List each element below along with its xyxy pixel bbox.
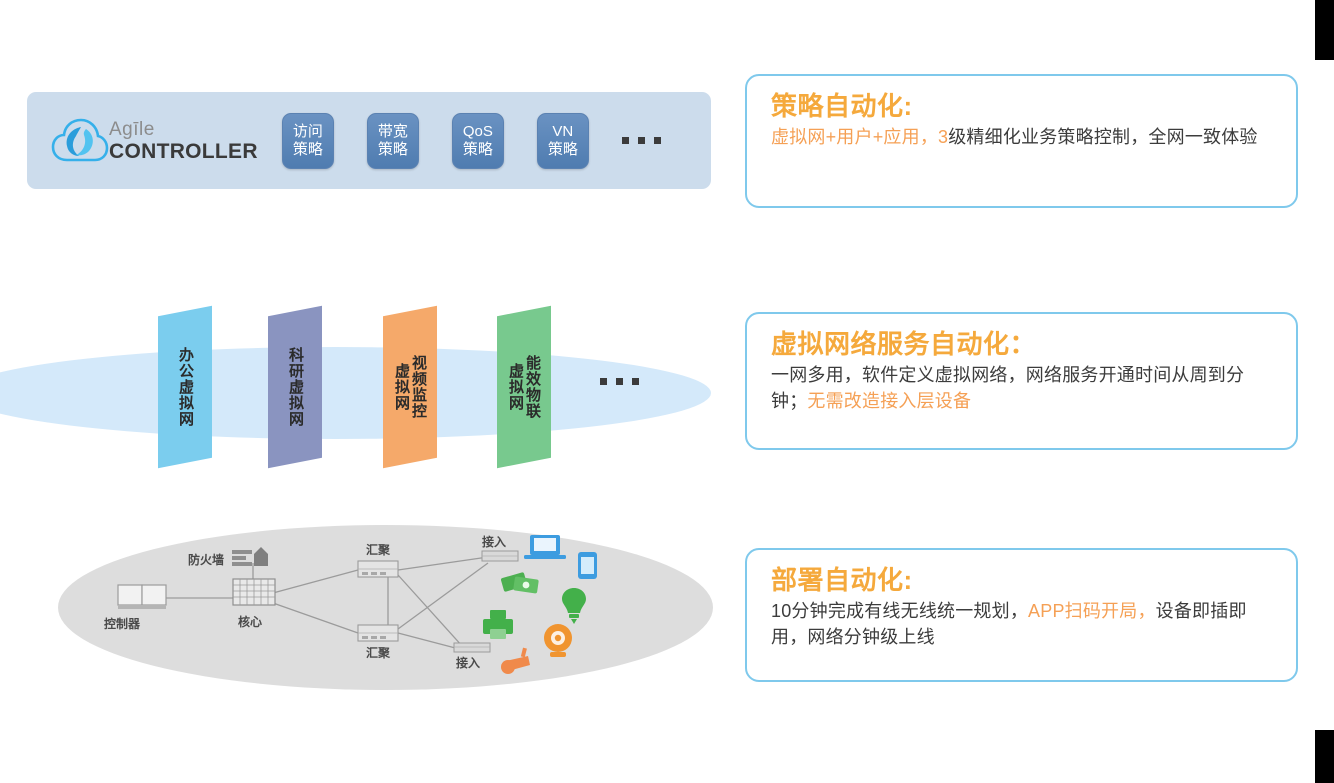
policy-chip-qos[interactable]: QoS 策略 [452, 113, 504, 169]
edge-bar-bottom [1315, 730, 1334, 783]
vn-slab-label: 办公虚拟网 [177, 347, 194, 427]
bulb-icon [562, 588, 586, 624]
vn-slab-research: 科研虚拟网 [268, 306, 322, 468]
slide-canvas: Agīle CONTROLLER 访问 策略 带宽 策略 QoS 策略 VN 策… [0, 0, 1334, 783]
laptop-icon [524, 535, 566, 559]
banner-more-dots-icon [622, 137, 661, 144]
policy-chip-line1: 带宽 [378, 123, 408, 141]
virtual-network-service-panel: 虚拟网络服务自动化： 一网多用，软件定义虚拟网络，网络服务开通时间从周到分钟；无… [745, 312, 1298, 450]
vn-slab-office: 办公虚拟网 [158, 306, 212, 468]
topology-label-core: 核心 [238, 613, 262, 630]
logo-controller-text: CONTROLLER [109, 141, 258, 162]
deployment-automation-panel: 部署自动化: 10分钟完成有线无线统一规划，APP扫码开局，设备即插即用，网络分… [745, 548, 1298, 682]
firewall-node-icon [232, 547, 268, 566]
policy-chip-line1: QoS [463, 123, 493, 141]
vn-slab-label: 视频监控 虚拟网 [393, 355, 427, 419]
agile-controller-banner: Agīle CONTROLLER 访问 策略 带宽 策略 QoS 策略 VN 策… [27, 92, 711, 189]
policy-chip-access[interactable]: 访问 策略 [282, 113, 334, 169]
access-node-bottom-icon [454, 643, 490, 652]
policy-chip-line1: 访问 [293, 123, 323, 141]
vn-slab-label: 科研虚拟网 [287, 347, 304, 427]
cctv-icon [501, 648, 530, 674]
network-topology-diagram: 控制器 防火墙 核心 汇聚 汇聚 接入 接入 [58, 525, 713, 690]
policy-chip-vn[interactable]: VN 策略 [537, 113, 589, 169]
policy-automation-panel: 策略自动化: 虚拟网+用户+应用，3级精细化业务策略控制，全网一致体验 [745, 74, 1298, 208]
policy-chip-line1: VN [552, 123, 573, 141]
topology-label-aggregation-top: 汇聚 [366, 541, 390, 558]
policy-chip-line2: 策略 [463, 141, 493, 159]
panel-body-highlight: 虚拟网+用户+应用，3 [771, 127, 948, 147]
aggregation-node-top-icon [358, 561, 398, 577]
logo-agile-text: Agīle [109, 120, 258, 139]
vn-slab-label: 能效物联 虚拟网 [507, 355, 541, 419]
aggregation-node-bottom-icon [358, 625, 398, 641]
vn-slab-energy-iot: 能效物联 虚拟网 [497, 306, 551, 468]
access-node-top-icon [482, 551, 518, 561]
panel-title: 策略自动化: [771, 90, 1276, 122]
topology-label-firewall: 防火墙 [188, 551, 224, 568]
topology-label-access-bottom: 接入 [456, 654, 480, 671]
printer-icon [483, 610, 513, 639]
money-icon [501, 572, 539, 594]
vn-slab-video-surveillance: 视频监控 虚拟网 [383, 306, 437, 468]
policy-chip-line2: 策略 [548, 141, 578, 159]
panel-body-highlight: APP扫码开局， [1028, 601, 1156, 621]
panel-body-lead: 10分钟完成有线无线统一规划， [771, 601, 1028, 621]
policy-chip-bandwidth[interactable]: 带宽 策略 [367, 113, 419, 169]
tablet-icon [578, 552, 597, 579]
cloud-swirl-icon [51, 117, 109, 165]
panel-body: 一网多用，软件定义虚拟网络，网络服务开通时间从周到分钟；无需改造接入层设备 [771, 362, 1276, 414]
edge-bar-top [1315, 0, 1334, 60]
agile-controller-logo: Agīle CONTROLLER [51, 117, 258, 165]
vn-more-dots-icon [600, 378, 639, 385]
virtual-network-backplane [0, 347, 711, 439]
topology-label-aggregation-bottom: 汇聚 [366, 644, 390, 661]
topology-label-access-top: 接入 [482, 533, 506, 550]
virtual-network-diagram: 办公虚拟网 科研虚拟网 视频监控 虚拟网 能效物联 虚拟网 [0, 285, 711, 495]
panel-body-rest: 级精细化业务策略控制，全网一致体验 [948, 127, 1257, 147]
panel-body: 10分钟完成有线无线统一规划，APP扫码开局，设备即插即用，网络分钟级上线 [771, 598, 1276, 650]
panel-body-highlight: 无需改造接入层设备 [807, 391, 971, 411]
policy-chip-line2: 策略 [293, 141, 323, 159]
panel-body: 虚拟网+用户+应用，3级精细化业务策略控制，全网一致体验 [771, 124, 1276, 150]
topology-label-controller: 控制器 [104, 615, 140, 632]
policy-chip-line2: 策略 [378, 141, 408, 159]
core-switch-node-icon [233, 579, 275, 605]
panel-title: 部署自动化: [771, 564, 1276, 596]
webcam-icon [544, 624, 572, 657]
panel-title: 虚拟网络服务自动化： [771, 328, 1276, 360]
controller-node-icon [118, 585, 166, 609]
